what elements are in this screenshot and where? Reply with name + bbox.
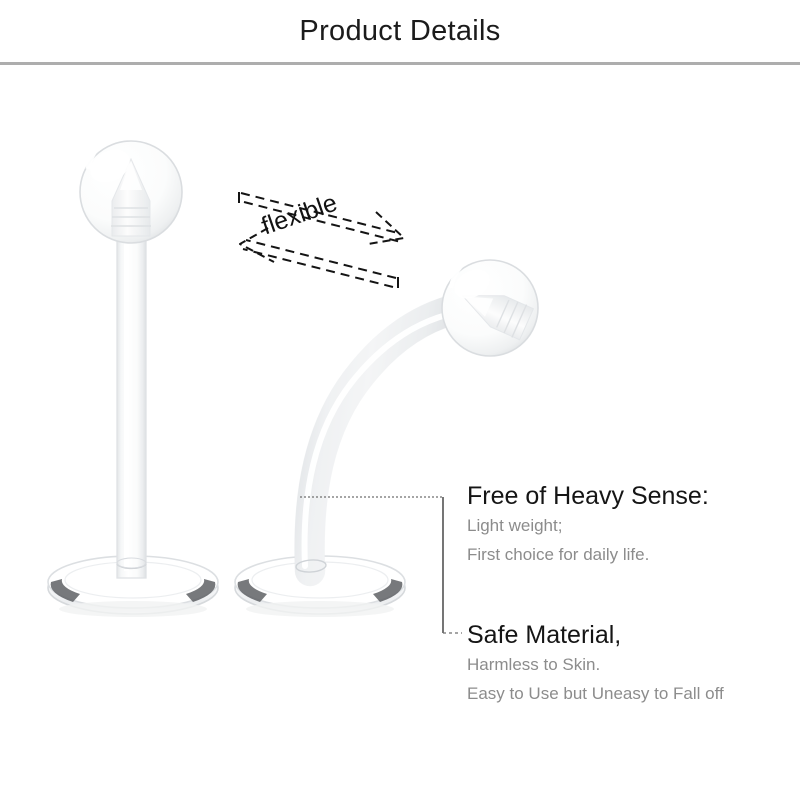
bent-stud-curved-shaft — [296, 310, 452, 573]
annotation-free-of-heavy-sense: Free of Heavy Sense: Light weight; First… — [467, 481, 797, 569]
annotation-title: Safe Material, — [467, 620, 797, 650]
annotation-title: Free of Heavy Sense: — [467, 481, 797, 511]
annotation-line: Harmless to Skin. — [467, 650, 797, 679]
straight-stud-graphic — [48, 132, 218, 617]
page-title: Product Details — [0, 13, 800, 49]
annotation-line: First choice for daily life. — [467, 540, 797, 569]
annotation-line: Light weight; — [467, 511, 797, 540]
straight-stud-ball — [80, 132, 182, 243]
flexible-arrow-left — [240, 228, 398, 288]
annotation-safe-material: Safe Material, Harmless to Skin. Easy to… — [467, 620, 797, 708]
header-divider — [0, 62, 800, 65]
page-header: Product Details — [0, 0, 800, 66]
bent-stud-ball — [442, 253, 538, 356]
annotation-line: Easy to Use but Uneasy to Fall off — [467, 679, 797, 708]
straight-stud-shaft — [117, 226, 146, 578]
